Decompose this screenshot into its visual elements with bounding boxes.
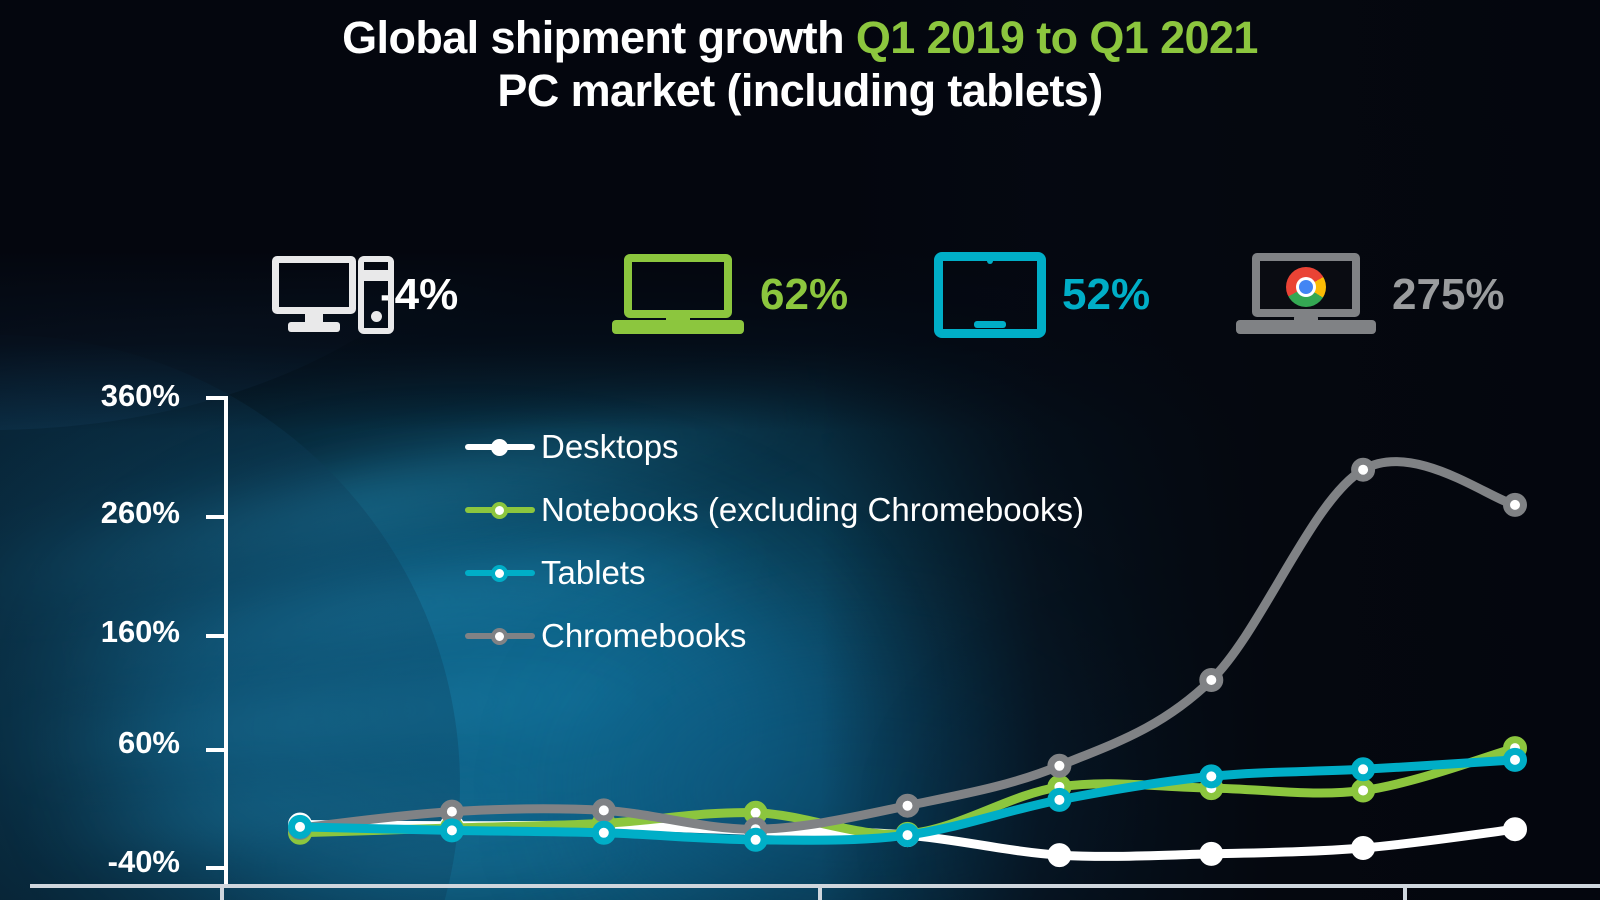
legend-dot: [491, 565, 508, 582]
chart-legend: Desktops Notebooks (excluding Chromebook…: [465, 415, 1084, 667]
data-point[interactable]: [899, 797, 916, 814]
legend-dot: [491, 439, 508, 456]
tablet-home-button: [974, 321, 1006, 328]
kpi-notebooks: 62%: [612, 240, 848, 350]
kpi-value-chromebooks: 275%: [1392, 273, 1505, 317]
data-point[interactable]: [443, 822, 460, 839]
title-text-highlight: Q1 2019 to Q1 2021: [856, 12, 1258, 63]
kpi-value-tablets: 52%: [1062, 273, 1150, 317]
kpi-tablets: 52%: [934, 240, 1150, 350]
data-point[interactable]: [1203, 768, 1220, 785]
legend-dot: [491, 628, 508, 645]
title-line-2: PC market (including tablets): [0, 67, 1600, 116]
data-point[interactable]: [1051, 757, 1068, 774]
data-point[interactable]: [443, 803, 460, 820]
monitor-base: [288, 322, 340, 332]
chromebook-base: [1236, 320, 1376, 334]
laptop-screen: [624, 254, 732, 318]
legend-marker-icon: [465, 622, 535, 650]
tablet-icon: [934, 252, 1046, 338]
data-point[interactable]: [595, 802, 612, 819]
legend-item-notebooks[interactable]: Notebooks (excluding Chromebooks): [465, 478, 1084, 541]
laptop-icon: [612, 254, 744, 336]
data-point[interactable]: [747, 831, 764, 848]
chromebook-icon: [1236, 253, 1376, 337]
tower-power-button: [371, 311, 382, 322]
tower-body: [358, 256, 394, 334]
data-point[interactable]: [1203, 672, 1220, 689]
laptop-base: [612, 320, 744, 334]
legend-label: Chromebooks: [541, 617, 746, 655]
tower-drive-bay: [363, 270, 389, 281]
legend-label: Desktops: [541, 428, 679, 466]
legend-label: Notebooks (excluding Chromebooks): [541, 491, 1084, 529]
legend-item-tablets[interactable]: Tablets: [465, 541, 1084, 604]
data-point[interactable]: [1507, 496, 1524, 513]
legend-marker-icon: [465, 559, 535, 587]
data-point[interactable]: [1051, 791, 1068, 808]
page-title: Global shipment growth Q1 2019 to Q1 202…: [0, 14, 1600, 115]
chrome-logo-core: [1299, 280, 1313, 294]
data-point[interactable]: [1051, 847, 1068, 864]
title-line-1: Global shipment growth Q1 2019 to Q1 202…: [0, 14, 1600, 63]
data-point[interactable]: [1203, 845, 1220, 862]
chrome-logo-icon: [1286, 267, 1326, 307]
title-text-plain: Global shipment growth: [342, 12, 856, 63]
data-point[interactable]: [292, 818, 309, 835]
data-point[interactable]: [1507, 751, 1524, 768]
data-point[interactable]: [1355, 782, 1372, 799]
kpi-value-notebooks: 62%: [760, 273, 848, 317]
data-point[interactable]: [595, 824, 612, 841]
legend-marker-icon: [465, 433, 535, 461]
data-point[interactable]: [1355, 461, 1372, 478]
kpi-desktops: -4%: [272, 240, 458, 350]
data-point[interactable]: [1355, 840, 1372, 857]
desktop-icon: [272, 254, 364, 336]
data-point[interactable]: [899, 827, 916, 844]
legend-item-desktops[interactable]: Desktops: [465, 415, 1084, 478]
legend-marker-icon: [465, 496, 535, 524]
kpi-row: -4% 62% 52% 275%: [0, 240, 1600, 350]
legend-label: Tablets: [541, 554, 646, 592]
monitor-screen: [272, 256, 356, 314]
data-point[interactable]: [1507, 821, 1524, 838]
kpi-chromebooks: 275%: [1236, 240, 1505, 350]
legend-dot: [491, 502, 508, 519]
legend-item-chromebooks[interactable]: Chromebooks: [465, 604, 1084, 667]
tablet-camera: [987, 258, 993, 264]
data-point[interactable]: [1355, 761, 1372, 778]
